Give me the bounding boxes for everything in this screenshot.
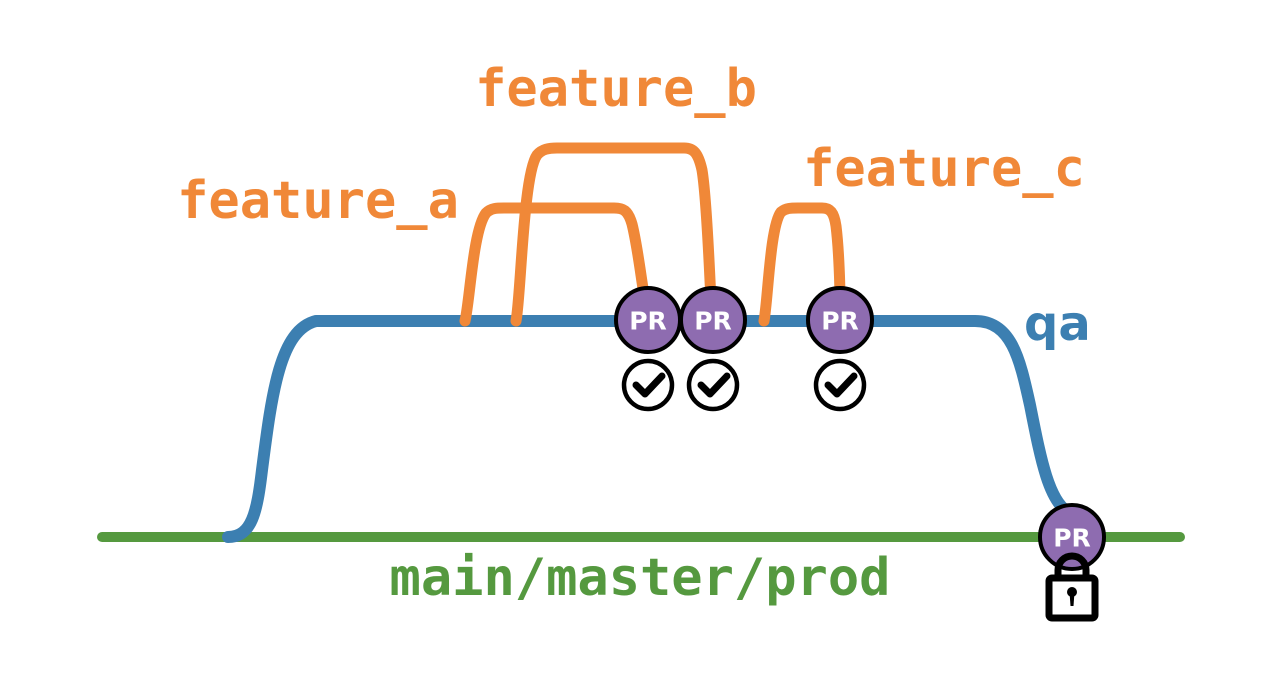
pr-node-label: PR <box>1053 524 1091 553</box>
check-circle-outline <box>624 361 672 409</box>
check-circle-outline <box>816 361 864 409</box>
check-circle-icon[interactable] <box>689 361 737 409</box>
pr-node-label: PR <box>629 307 667 336</box>
feature-b-branch-line[interactable] <box>516 148 711 321</box>
pr-node-feature-b[interactable]: PR <box>681 288 745 352</box>
feature-c-label: feature_c <box>803 139 1085 199</box>
qa-label: qa <box>1024 296 1091 352</box>
pr-node-label: PR <box>694 307 732 336</box>
git-graph-canvas: PR PR PR PR <box>0 0 1288 678</box>
main-branch-label: main/master/prod <box>390 548 891 608</box>
check-circle-icon[interactable] <box>816 361 864 409</box>
feature-a-label: feature_a <box>177 171 459 231</box>
feature-b-label: feature_b <box>475 59 757 119</box>
pr-node-label: PR <box>821 307 859 336</box>
pr-node-feature-a[interactable]: PR <box>616 288 680 352</box>
pr-node-feature-c[interactable]: PR <box>808 288 872 352</box>
git-branching-diagram: PR PR PR PR <box>0 0 1288 678</box>
check-circle-icon[interactable] <box>624 361 672 409</box>
check-circle-outline <box>689 361 737 409</box>
